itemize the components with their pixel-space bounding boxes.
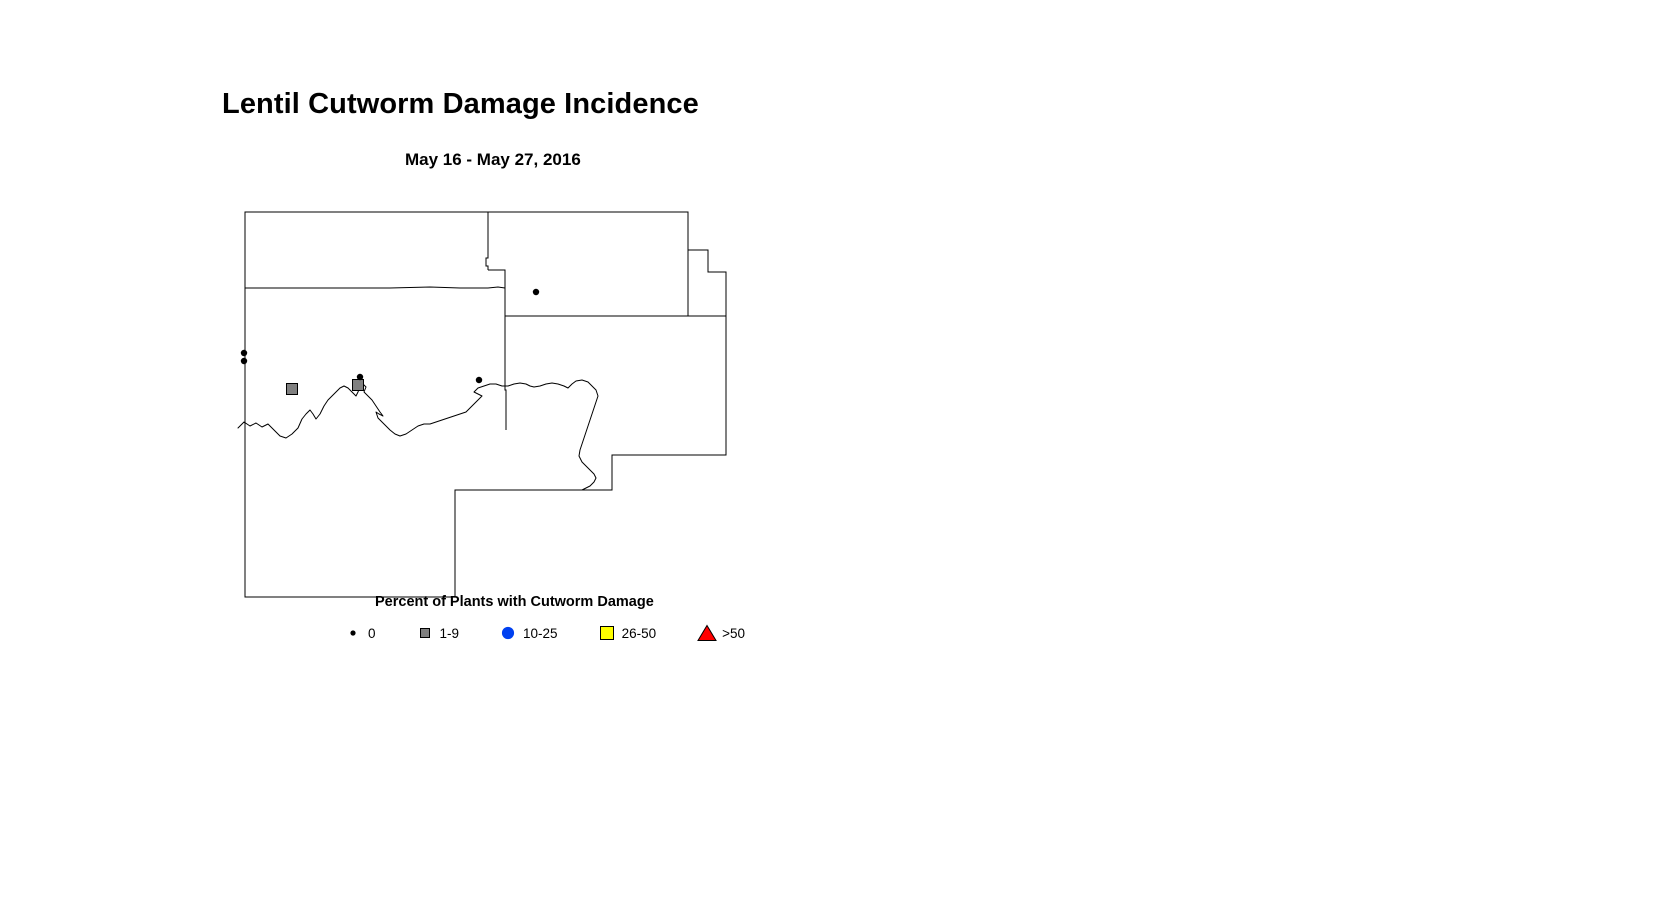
legend-label-over-50: >50 — [722, 626, 745, 641]
data-point-0[interactable] — [476, 377, 482, 383]
page-title: Lentil Cutworm Damage Incidence — [222, 88, 699, 121]
legend-title: Percent of Plants with Cutworm Damage — [375, 594, 654, 610]
legend-entry-over-50[interactable]: >50 — [694, 620, 745, 646]
legend-label-26-50: 26-50 — [622, 626, 657, 641]
yellow-square-icon — [594, 620, 620, 646]
map-panel — [230, 200, 750, 610]
date-range-subtitle: May 16 - May 27, 2016 — [405, 150, 581, 170]
legend-entry-1-9[interactable]: 1-9 — [412, 620, 460, 646]
legend-entry-26-50[interactable]: 26-50 — [594, 620, 657, 646]
legend-entry-10-25[interactable]: 10-25 — [495, 620, 558, 646]
red-triangle-icon — [694, 620, 720, 646]
data-point-0[interactable] — [357, 374, 363, 380]
gray-square-icon — [412, 620, 438, 646]
data-point-1-9[interactable] — [287, 384, 298, 395]
legend-label-1-9: 1-9 — [440, 626, 460, 641]
small-dot-icon — [340, 620, 366, 646]
data-point-1-9[interactable] — [353, 380, 364, 391]
legend-entry-0[interactable]: 0 — [340, 620, 376, 646]
legend-label-10-25: 10-25 — [523, 626, 558, 641]
legend-label-0: 0 — [368, 626, 376, 641]
map-outer-boundary — [245, 212, 726, 597]
legend: 0 1-9 10-25 — [340, 620, 745, 646]
data-point-0[interactable] — [533, 289, 539, 295]
region-map — [230, 200, 750, 610]
data-point-0[interactable] — [241, 350, 247, 356]
blue-circle-icon — [495, 620, 521, 646]
data-point-0[interactable] — [241, 358, 247, 364]
figure-root: Lentil Cutworm Damage Incidence May 16 -… — [0, 0, 1673, 900]
